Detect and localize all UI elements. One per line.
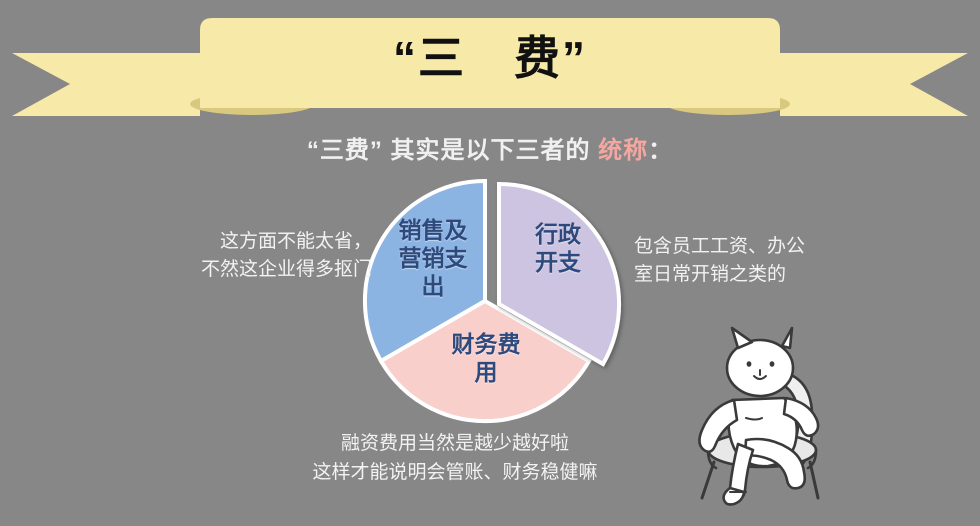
banner-title-text: “三 费” xyxy=(0,30,980,88)
annotation-finance: 融资费用当然是越少越好啦 这样才能说明会管账、财务稳健嘛 xyxy=(240,430,670,487)
subtitle-accent: 统称 xyxy=(598,137,648,164)
pie-chart: 销售及 营销支 出 行政 开支 财务费 用 xyxy=(352,168,642,430)
cat-illustration xyxy=(686,322,842,508)
pie-label-sales: 销售及 营销支 出 xyxy=(384,216,482,300)
pie-label-admin: 行政 开支 xyxy=(517,220,599,276)
annotation-admin: 包含员工工资、办公 室日常开销之类的 xyxy=(634,233,844,288)
slide-canvas: “三 费” “三费” 其实是以下三者的 统称： 销售及 营销支 出 行政 开支 … xyxy=(0,0,980,526)
title-banner: “三 费” xyxy=(0,8,980,120)
subtitle-lead: “三费” 其实是以下三者的 xyxy=(307,137,598,164)
subtitle-tail: ： xyxy=(648,137,673,164)
subtitle: “三费” 其实是以下三者的 统称： xyxy=(0,130,980,165)
pie-label-finance: 财务费 用 xyxy=(430,330,542,386)
annotation-sales: 这方面不能太省， 不然这企业得多抠门 xyxy=(152,228,372,283)
cat-in-chair-icon xyxy=(686,322,842,508)
